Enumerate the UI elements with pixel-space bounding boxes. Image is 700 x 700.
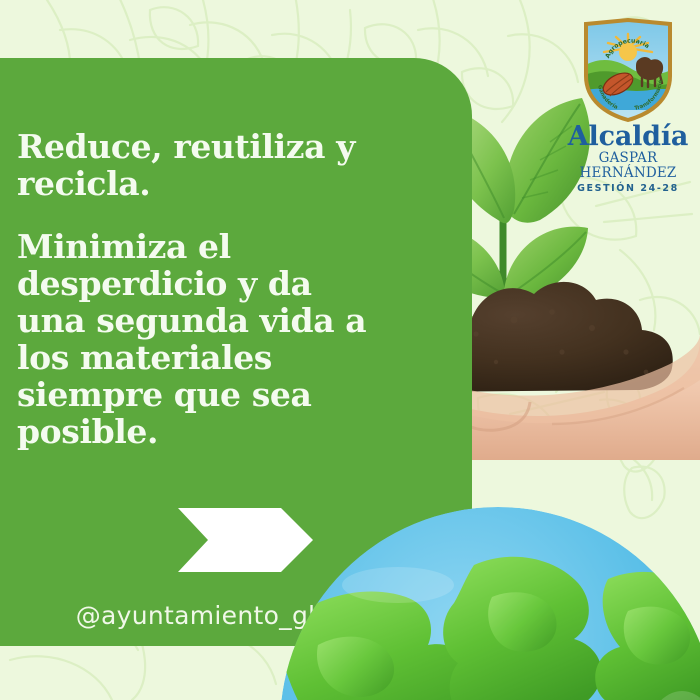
alcaldia-logo: Agropecuaria Ganadería Transformación Al… xyxy=(562,18,694,170)
earth-globe xyxy=(278,505,700,700)
shield-emblem-icon: Agropecuaria Ganadería Transformación xyxy=(578,18,678,122)
logo-brand-name: Alcaldía xyxy=(562,123,694,150)
logo-municipality: GASPAR HERNÁNDEZ xyxy=(562,151,694,181)
poster-canvas: Reduce, reutiliza y recicla. Minimiza el… xyxy=(0,0,700,700)
logo-term: GESTIÓN 24-28 xyxy=(562,183,694,194)
